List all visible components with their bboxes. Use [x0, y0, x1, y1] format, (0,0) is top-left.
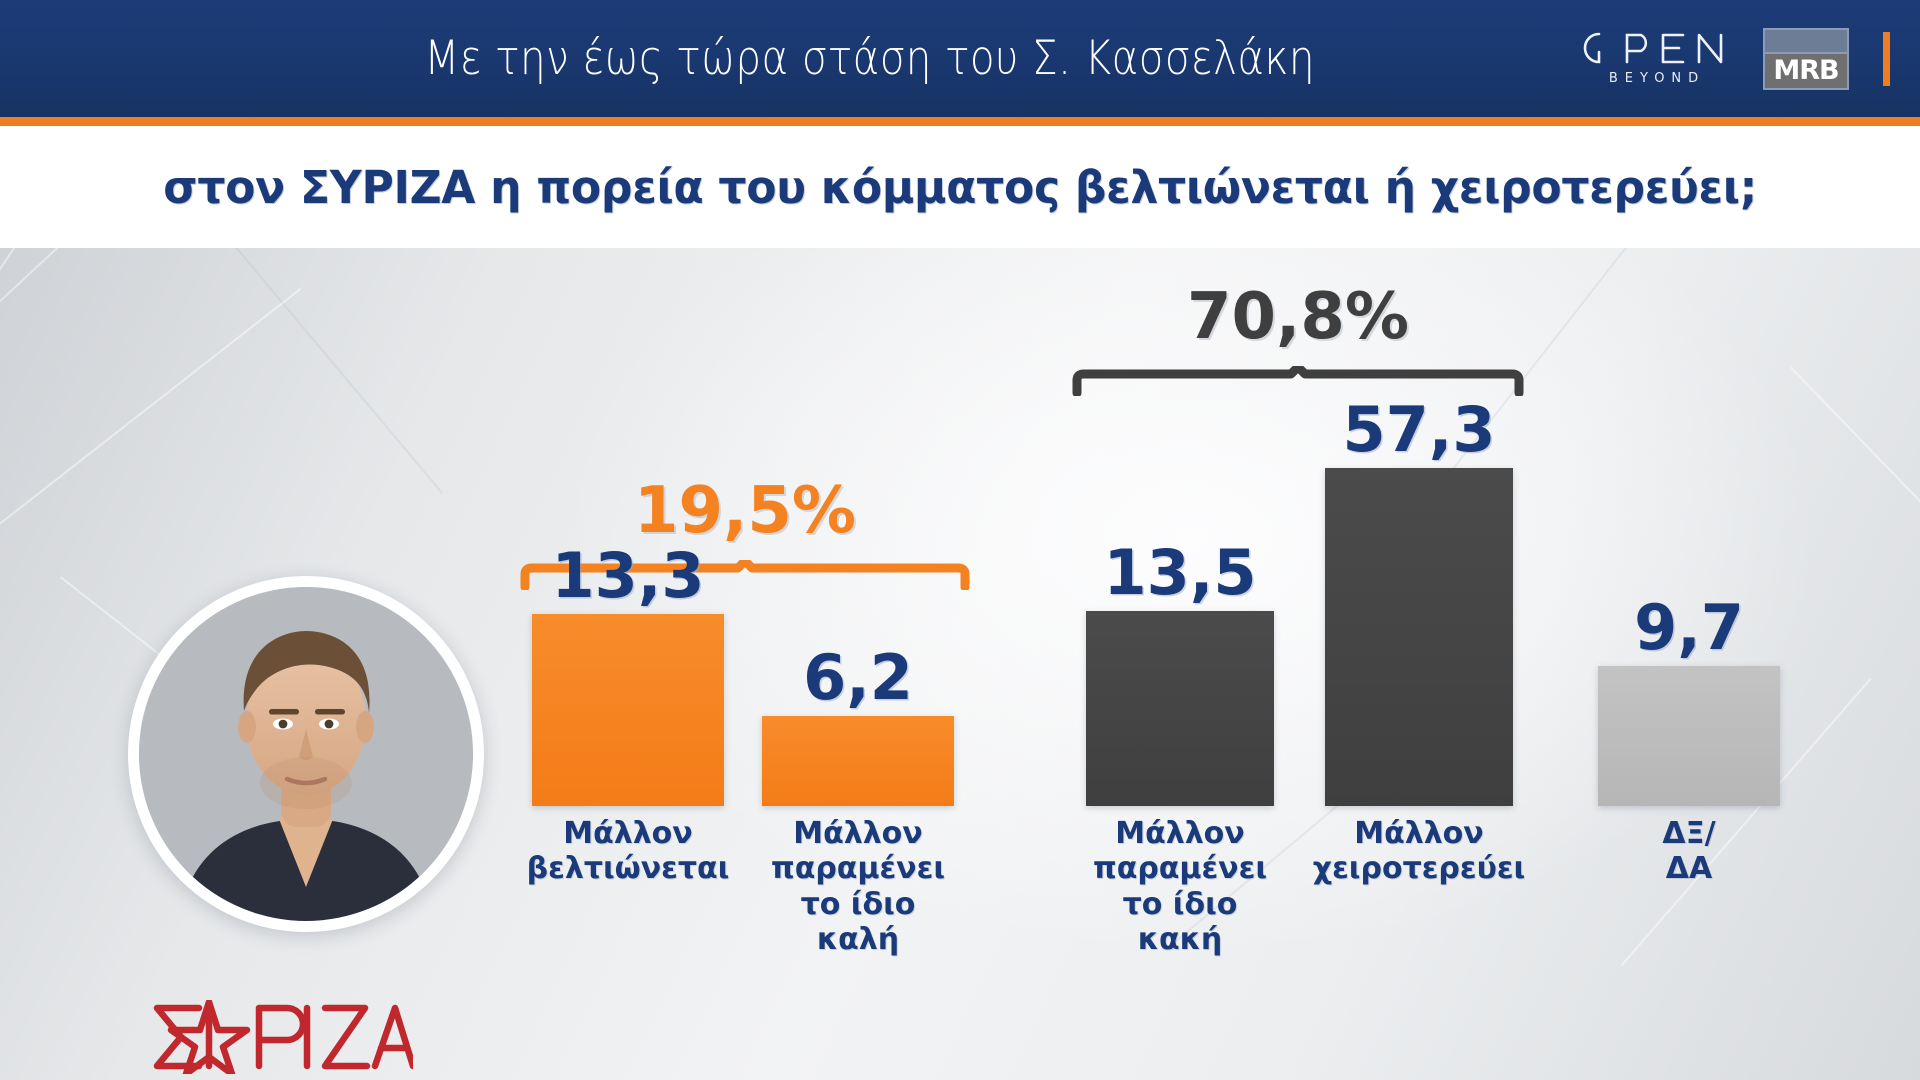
mrb-logo: MRB [1763, 28, 1849, 90]
party-logo: ΠΡΟΟΔΕΥΤΙΚΗ ΣΥΜΜΑΧΙΑ [120, 1000, 440, 1080]
bar-mallon-xeiroterevei: 57,3 Μάλλον χειροτερεύει [1325, 468, 1513, 806]
bar-rect [762, 716, 954, 806]
bar-label: ΔΞ/ΔΑ [1644, 816, 1735, 887]
bar-paramenei-kali: 6,2 Μάλλον παραμένει το ίδιο καλή [762, 716, 954, 806]
bracket-right-group: 70,8% [1072, 366, 1524, 396]
bg-texture-line [210, 248, 443, 494]
header-bar: Με την έως τώρα στάση του Σ. Κασσελάκη B… [0, 0, 1920, 117]
open-wordmark-icon [1579, 31, 1729, 65]
bar-rect [1598, 666, 1780, 806]
bar-value: 57,3 [1343, 393, 1496, 466]
bar-value: 13,5 [1104, 536, 1257, 609]
bar-value: 9,7 [1634, 591, 1744, 664]
chart-area: ΠΡΟΟΔΕΥΤΙΚΗ ΣΥΜΜΑΧΙΑ 19,5% 70,8% 13,3 Μά… [0, 248, 1920, 1080]
bg-texture-line [0, 248, 121, 530]
bar-mallon-veltionetai: 13,3 Μάλλον βελτιώνεται [532, 614, 724, 806]
bar-rect [532, 614, 724, 806]
bar-label: Μάλλον παραμένει το ίδιο καλή [771, 816, 945, 958]
subtitle-band: στον ΣΥΡΙΖΑ η πορεία του κόμματος βελτιώ… [0, 126, 1920, 248]
mrb-logo-top-band [1765, 30, 1847, 54]
bar-label: Μάλλον παραμένει το ίδιο κακή [1093, 816, 1267, 958]
syriza-logo-icon [147, 1000, 413, 1074]
bar-label: Μάλλον χειροτερεύει [1313, 816, 1526, 887]
header-orange-rule [0, 117, 1920, 126]
poll-graphic-root: Με την έως τώρα στάση του Σ. Κασσελάκη B… [0, 0, 1920, 1080]
subtitle-text: στον ΣΥΡΙΖΑ η πορεία του κόμματος βελτιώ… [163, 161, 1757, 214]
bar-value: 6,2 [803, 641, 913, 714]
open-tagline: BEYOND [1603, 71, 1705, 86]
bar-dk-da: 9,7 ΔΞ/ΔΑ [1598, 666, 1780, 806]
mrb-logo-wordmark: MRB [1765, 54, 1847, 88]
open-beyond-logo: BEYOND [1579, 31, 1729, 86]
bar-paramenei-kaki: 13,5 Μάλλον παραμένει το ίδιο κακή [1086, 611, 1274, 806]
avatar [128, 576, 484, 932]
bracket-right-total: 70,8% [1187, 280, 1409, 354]
bar-label: Μάλλον βελτιώνεται [527, 816, 730, 887]
bar-rect [1086, 611, 1274, 806]
bar-value: 13,3 [552, 539, 705, 612]
orange-accent-tick [1883, 32, 1890, 86]
bar-rect [1325, 468, 1513, 806]
header-title: Με την έως τώρα στάση του Σ. Κασσελάκη [134, 0, 1785, 117]
bg-texture-line [0, 288, 301, 573]
bg-texture-line [1790, 367, 1920, 742]
bracket-left-total: 19,5% [634, 474, 856, 548]
broadcaster-logos: BEYOND MRB [1579, 0, 1890, 117]
